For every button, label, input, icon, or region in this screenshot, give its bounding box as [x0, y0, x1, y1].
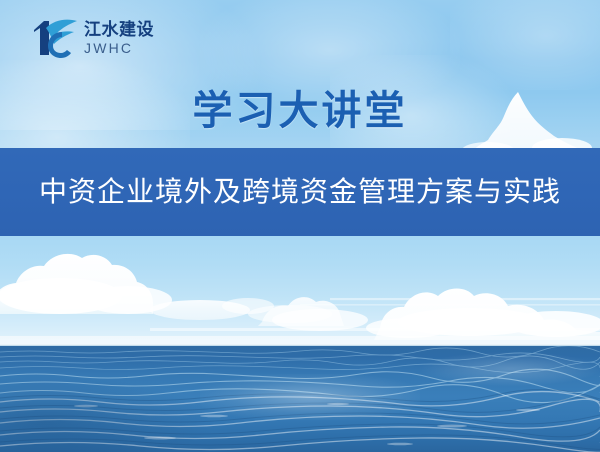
logo-company-name-en: JWHC — [84, 41, 154, 55]
main-title: 学习大讲堂 — [0, 78, 600, 136]
company-logo: 江水建设 JWHC — [28, 14, 198, 62]
horizon-cloud-bank — [0, 236, 600, 346]
ocean-shadow-left — [0, 376, 220, 452]
subtitle-text: 中资企业境外及跨境资金管理方案与实践 — [39, 178, 561, 206]
cloud-haze-top-right — [450, 0, 600, 90]
poster-banner: 江水建设 JWHC 学习大讲堂 中资企业境外及跨境资金管理方案与实践 — [0, 0, 600, 452]
ocean-sun-glint — [200, 374, 420, 420]
ocean-sun-glint-right — [420, 352, 600, 386]
ocean-background — [0, 346, 600, 452]
lower-sky-background — [0, 236, 600, 346]
logo-wordmark: 江水建设 JWHC — [84, 21, 154, 55]
jwhc-wave-one-logo-icon — [28, 16, 78, 60]
subtitle-banner: 中资企业境外及跨境资金管理方案与实践 — [0, 148, 600, 236]
logo-company-name-cn: 江水建设 — [84, 21, 154, 38]
